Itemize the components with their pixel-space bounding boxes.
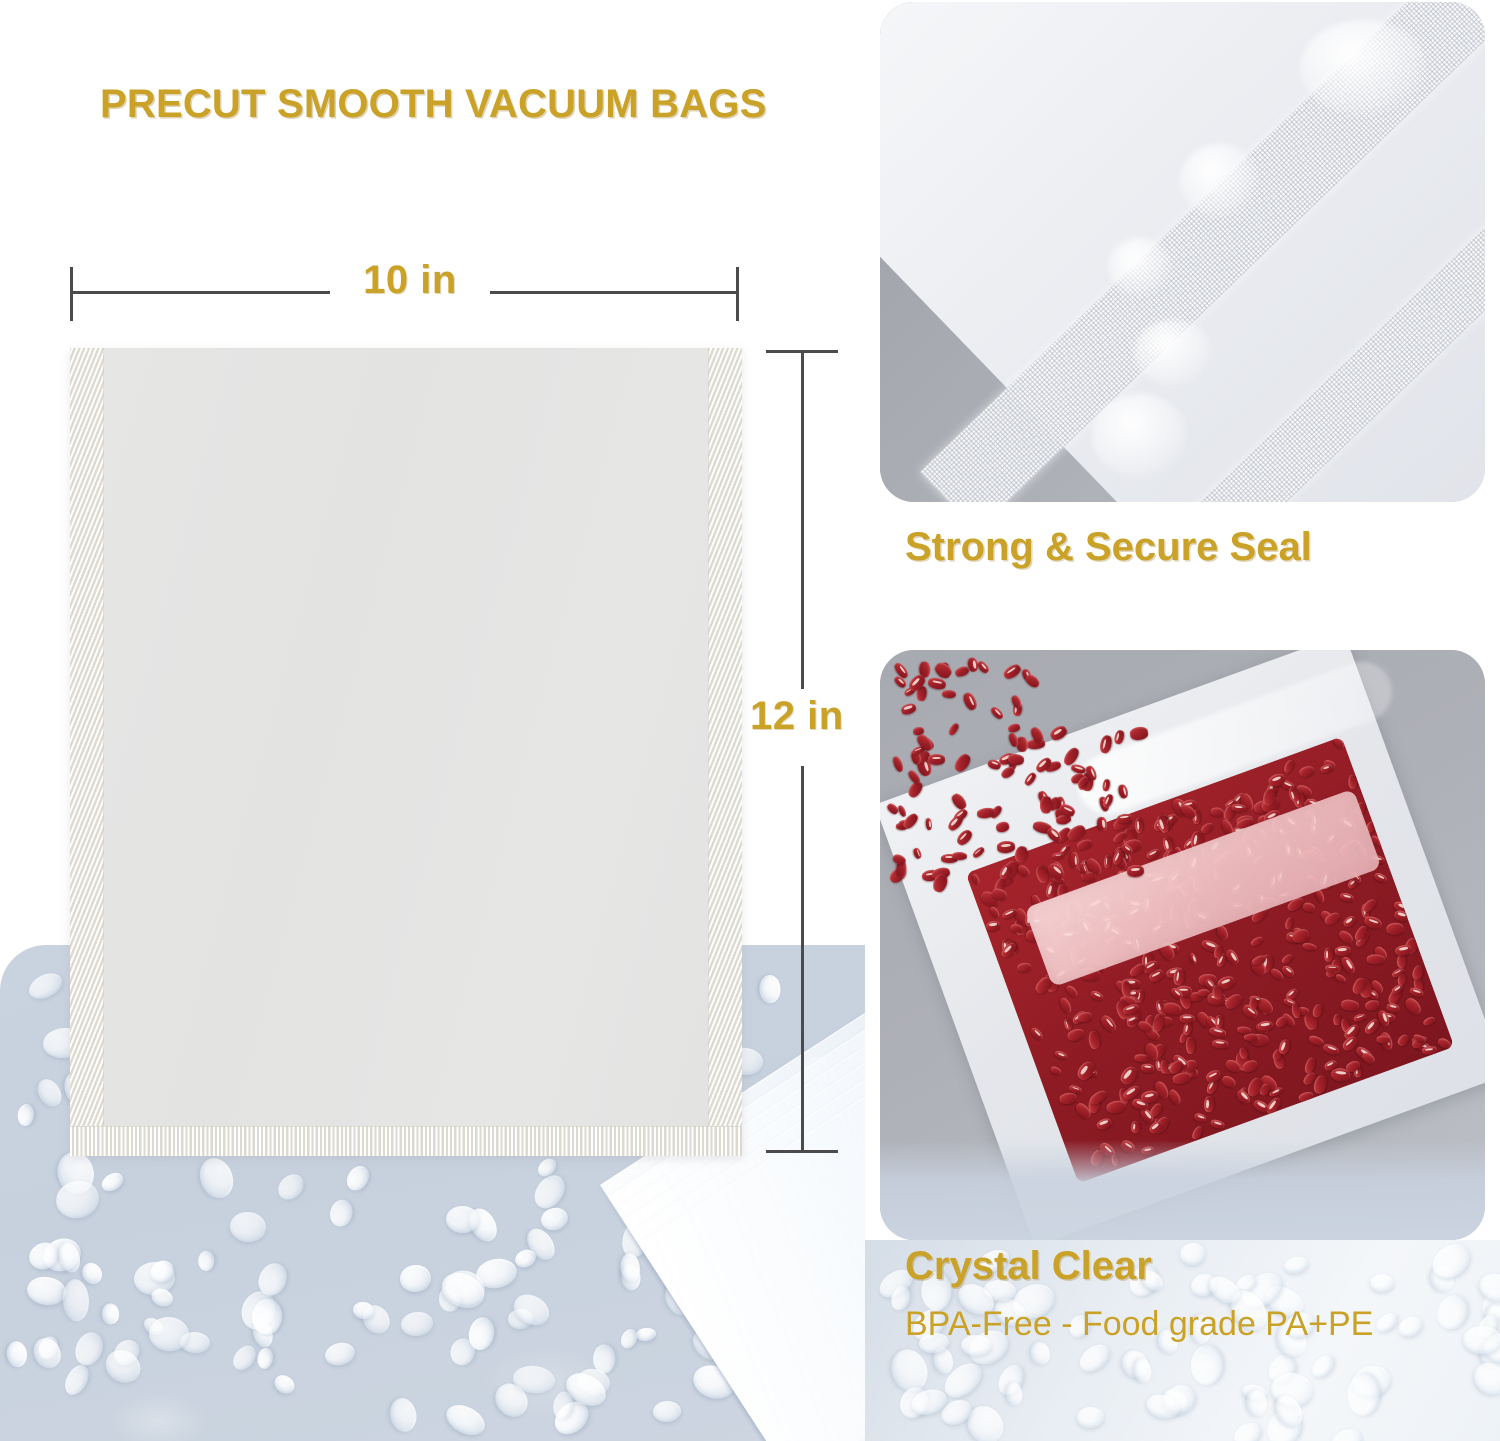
plastic-pellet [55,1239,83,1274]
bag-bottom-seal-strip [70,1126,742,1156]
plastic-pellet [1190,1345,1223,1386]
red-bean [1210,806,1224,817]
red-bean [1204,1068,1223,1085]
plastic-pellet [508,1289,554,1331]
red-bean [1113,730,1125,746]
vacuum-bag-illustration [70,348,742,1156]
red-bean [998,863,1014,881]
red-bean [976,659,990,673]
red-bean [1339,955,1357,976]
plastic-pellet [198,1250,214,1271]
red-bean [1339,892,1355,903]
plastic-pellet [619,1252,641,1282]
page-title: PRECUT SMOOTH VACUUM BAGS [100,82,766,127]
plastic-pellet [194,1153,239,1203]
plastic-pellet [696,1235,738,1279]
plastic-pellet [560,1366,610,1411]
bag-body [70,348,742,1156]
height-dimension-cap-top [766,350,838,353]
red-bean [950,791,968,811]
plastic-pellet [250,1317,275,1349]
plastic-pellet [802,1206,832,1238]
plastic-pellet [1373,1309,1401,1335]
plastic-pellet [61,1278,90,1321]
plastic-pellet [771,1340,813,1380]
red-bean [1141,1063,1155,1073]
plastic-pellet [141,1314,167,1339]
plastic-pellet [25,1238,63,1274]
red-bean [1058,997,1073,1015]
plastic-pellet [25,969,66,1004]
red-bean [1088,1088,1108,1106]
plastic-pellet [1327,1424,1365,1441]
red-bean [1291,1003,1301,1019]
plastic-pellet [1028,1340,1052,1367]
red-bean [1053,1050,1068,1062]
plastic-pellet [1369,1274,1393,1292]
red-bean [1340,999,1360,1013]
red-bean [1001,661,1022,680]
plastic-pellet [618,1326,640,1351]
red-bean [1045,861,1067,883]
plastic-pellet [548,1395,594,1440]
red-bean [1386,922,1404,935]
red-bean [1333,1014,1340,1026]
plastic-pellet [1463,1325,1500,1354]
plastic-pellet [625,1183,666,1224]
plastic-pellet [328,1197,356,1229]
plastic-pellet [539,1205,571,1233]
red-bean [1099,1013,1119,1034]
plastic-pellet [507,1308,534,1330]
red-bean [986,920,1002,932]
plastic-pellet [400,1310,434,1337]
red-bean [1214,1015,1223,1029]
red-bean [1361,1051,1376,1065]
red-bean [1353,1012,1367,1023]
red-bean [1335,945,1351,956]
red-bean [1185,1037,1195,1054]
red-bean [897,804,908,818]
plastic-pellet [60,1361,93,1399]
red-bean [1106,1099,1127,1115]
red-bean [1324,947,1333,961]
red-bean [988,905,1001,919]
red-bean [1231,804,1246,813]
plastic-pellet [466,1314,497,1352]
plastic-pellet [675,1187,696,1211]
plastic-pellet [837,1317,865,1351]
red-bean [928,754,945,765]
plastic-pellet [29,1333,66,1372]
plastic-pellet [25,1275,67,1308]
red-bean [1180,1014,1195,1023]
plastic-pellet [465,1204,502,1246]
red-bean [971,845,985,859]
plastic-pellet [774,1335,813,1369]
red-bean [952,752,973,774]
plastic-pellet [759,975,780,1004]
plastic-pellet [442,1399,490,1441]
plastic-pellet [78,1259,106,1288]
bag-left-seal-strip [70,348,104,1156]
film-highlight [1180,144,1258,218]
product-diagram-panel: 10 in 12 in PRECUT SMOOTH VACUUM BAGS [0,0,865,1441]
red-bean [1088,1031,1101,1050]
red-bean [1102,779,1110,792]
red-bean [954,665,970,678]
plastic-pellet [768,1360,793,1387]
red-bean [1402,996,1423,1017]
red-bean [997,840,1016,853]
red-bean [1322,1042,1341,1056]
plastic-pellet [474,1255,520,1291]
plastic-pellet [437,1266,490,1314]
red-bean [1096,816,1108,831]
red-bean [954,827,974,847]
plastic-pellet [70,1328,107,1369]
red-beans-in-vacuum-bag-photo [880,650,1485,1240]
film-highlight [1134,320,1212,386]
plastic-pellet [236,1286,281,1334]
red-bean [1308,1034,1324,1046]
plastic-pellet [1308,1352,1337,1382]
plastic-pellet [352,1300,376,1320]
plastic-pellet [387,1396,420,1435]
plastic-pellet [653,1400,682,1422]
plastic-pellet [36,1334,62,1362]
plastic-pellet [754,1228,783,1263]
red-bean [1029,1026,1045,1042]
red-bean [1411,965,1424,981]
plastic-pellet [1395,1313,1426,1341]
film-highlight [1108,238,1172,296]
plastic-pellet [689,1360,739,1403]
red-bean [1182,1022,1192,1036]
plastic-pellet [109,1334,144,1369]
plastic-pellet [732,1360,789,1415]
red-bean [1302,941,1317,951]
plastic-pellet [33,1075,66,1110]
red-bean [1197,989,1209,996]
plastic-pellet [322,1340,356,1369]
red-bean [1220,1074,1238,1090]
plastic-pellet [635,1327,657,1342]
red-bean [925,818,932,830]
plastic-pellet [250,1297,283,1336]
plastic-pellet [772,1157,798,1177]
plastic-pellet [676,1261,723,1300]
plastic-pellet [273,1169,308,1204]
width-dimension-label: 10 in [330,258,490,303]
red-bean [1016,962,1031,972]
plastic-pellet [746,1280,774,1303]
red-bean [1303,1057,1317,1075]
feature-cards-column: Strong & Secure Seal Crystal Clear BPA-F… [865,0,1500,1441]
red-bean [1373,871,1388,884]
plastic-pellet [488,1377,533,1423]
plastic-pellet [445,1205,479,1233]
red-bean [1117,813,1133,824]
red-bean [1376,1036,1390,1044]
plastic-pellet [1282,1254,1308,1274]
plastic-pellet [357,1300,395,1339]
bag-seal-closeup-photo [880,2,1485,502]
red-bean [989,705,1005,721]
film-highlight [1092,394,1188,478]
red-bean [1075,1059,1097,1082]
red-bean [1423,1016,1437,1027]
red-bean [1367,954,1385,964]
plastic-pellet [399,1264,432,1294]
plastic-pellet [228,1210,267,1243]
plastic-pellet [1005,1382,1023,1406]
plastic-pellet [574,1366,611,1398]
red-bean [1422,1045,1438,1054]
red-bean [1065,823,1087,843]
height-dimension-line-upper [801,352,804,689]
plastic-pellet [17,1103,36,1127]
infographic-canvas: 10 in 12 in PRECUT SMOOTH VACUUM BAGS St… [0,0,1500,1441]
red-bean [1203,1096,1214,1112]
plastic-pellet [529,1170,571,1214]
height-dimension-label: 12 in [750,694,844,739]
plastic-pellet [5,1340,28,1368]
feature-caption-strong-seal: Strong & Secure Seal [905,525,1312,570]
red-bean [1188,952,1198,965]
plastic-pellet [534,1155,559,1179]
red-bean [1257,1020,1274,1032]
red-bean [1059,1091,1077,1104]
plastic-pellet [762,1264,796,1290]
plastic-pellet [688,1325,728,1365]
red-bean [1364,999,1380,1012]
plastic-pellet [1229,1418,1265,1441]
plastic-pellet [832,1099,865,1148]
spilled-beans-group [880,660,1140,890]
plastic-pellet [133,1260,177,1297]
red-bean [1250,935,1265,947]
height-dimension-line-lower [801,766,804,1152]
red-bean [1342,914,1358,929]
red-bean [995,821,1010,833]
plastic-pellet [447,1336,478,1369]
red-bean [952,851,967,860]
plastic-pellet [740,1138,778,1182]
red-bean [891,756,905,774]
red-bean [1320,763,1333,774]
red-bean [1222,991,1244,1011]
feature-caption-crystal-clear: Crystal Clear [905,1244,1152,1289]
plastic-pellet [616,1212,657,1262]
red-bean [1131,1121,1141,1134]
plastic-pellet [52,1176,102,1222]
red-bean [900,702,917,716]
plastic-pellet [551,1390,574,1421]
red-bean [1023,771,1038,787]
plastic-pellet [651,1228,698,1274]
plastic-pellet [512,1363,557,1395]
red-bean [1394,944,1412,957]
red-bean [1040,796,1052,814]
plastic-pellet [1179,1242,1206,1266]
red-bean [913,847,923,860]
plastic-pellet [661,1277,697,1319]
red-bean [1120,980,1130,997]
bag-right-seal-strip [708,348,742,1156]
plastic-pellet [782,1397,817,1428]
plastic-pellet [627,1178,643,1204]
red-bean [942,690,956,699]
red-bean [1117,1064,1140,1087]
plastic-pellet [512,1246,538,1270]
red-bean [927,676,947,690]
film-highlight [1300,20,1428,116]
red-bean [1064,984,1079,999]
plastic-pellet [149,1285,176,1310]
plastic-pellet [39,1233,85,1276]
plastic-pellet [818,1088,853,1117]
pellet-overlap-strip [880,1140,1485,1240]
red-bean [1337,928,1355,945]
red-bean [1160,1060,1168,1073]
plastic-pellet [98,1170,126,1195]
plastic-pellet [101,1303,120,1325]
red-bean [1008,722,1022,733]
red-bean [947,722,959,736]
plastic-pellet [256,1347,275,1370]
plastic-pellet [780,1134,820,1176]
feature-subcaption-material: BPA-Free - Food grade PA+PE [905,1305,1373,1344]
red-bean [1210,1119,1226,1130]
red-bean [1397,954,1407,968]
red-bean [1334,972,1347,983]
red-bean [1089,989,1104,1002]
plastic-pellet [620,1264,641,1291]
height-dimension-cap-bottom [766,1150,838,1153]
red-bean [961,691,979,712]
plastic-pellet [1077,1406,1105,1427]
plastic-pellet [342,1162,373,1195]
red-bean [1212,1039,1229,1049]
red-bean [1311,1003,1323,1018]
plastic-pellet [857,1370,865,1390]
plastic-pellet [522,1223,560,1264]
red-bean [1249,998,1258,1010]
plastic-pellet [271,1371,298,1397]
red-bean [1048,724,1069,743]
red-bean [1049,1065,1062,1076]
red-bean [1298,765,1315,779]
red-bean [1395,1033,1410,1048]
plastic-pellet [740,1203,788,1248]
plastic-pellet [439,1286,461,1312]
plastic-pellet [254,1259,292,1300]
red-bean [1348,775,1357,789]
plastic-pellet [841,1073,865,1108]
red-bean [1117,784,1129,800]
red-bean [1224,948,1241,967]
red-bean [1280,952,1294,965]
red-bean [1166,1088,1182,1106]
plastic-pellet [671,1160,704,1184]
plastic-pellet [146,1256,177,1286]
red-bean [1095,1117,1113,1131]
red-bean [1013,844,1029,863]
red-bean [1008,732,1020,747]
red-bean [1098,735,1113,755]
width-dimension-cap-right [736,267,739,321]
plastic-pellet [1075,1339,1115,1377]
plastic-pellet [1132,1358,1153,1385]
plastic-pellet [147,1315,190,1352]
plastic-pellet [593,1344,615,1373]
width-dimension-cap-left [70,267,73,321]
red-bean [1148,1101,1164,1117]
plastic-pellet [179,1331,211,1354]
red-bean [1277,1038,1292,1056]
red-bean [1194,1112,1208,1123]
plastic-pellet [229,1341,261,1374]
plastic-pellet [99,1344,146,1390]
plastic-pellet [441,1266,489,1309]
red-bean [1017,737,1029,753]
plastic-pellet [1432,1291,1472,1334]
red-bean [1283,758,1296,773]
